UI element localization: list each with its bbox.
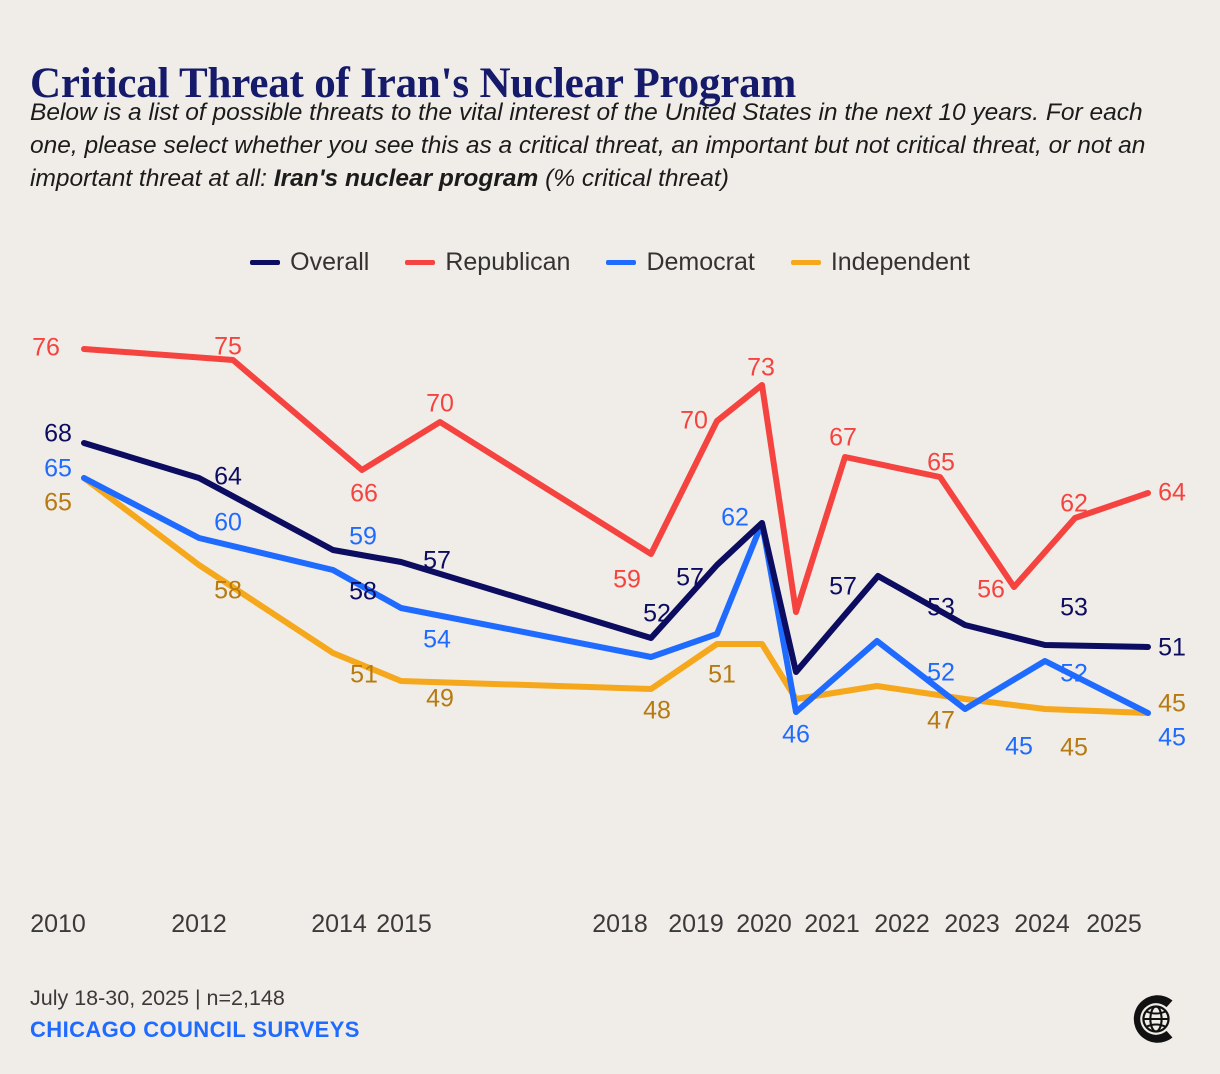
- data-label-overall: 51: [1158, 634, 1186, 663]
- x-axis-tick-2024: 2024: [1014, 910, 1070, 939]
- x-axis-tick-2019: 2019: [668, 910, 724, 939]
- chicago-council-globe-logo: [1121, 986, 1187, 1052]
- data-label-republican: 65: [927, 449, 955, 478]
- data-label-democrat: 62: [721, 504, 749, 533]
- data-label-democrat: 52: [927, 659, 955, 688]
- x-axis-tick-2023: 2023: [944, 910, 1000, 939]
- data-label-democrat: 46: [782, 721, 810, 750]
- legend-swatch-icon: [250, 260, 280, 265]
- data-label-independent: 45: [1060, 734, 1088, 763]
- data-label-republican: 70: [680, 407, 708, 436]
- legend-swatch-icon: [606, 260, 636, 265]
- data-label-republican: 64: [1158, 479, 1186, 508]
- data-label-republican: 73: [747, 354, 775, 383]
- data-label-overall: 57: [676, 564, 704, 593]
- legend-swatch-icon: [791, 260, 821, 265]
- subtitle-emphasis: Iran's nuclear program: [274, 165, 539, 192]
- data-label-democrat: 60: [214, 509, 242, 538]
- chart-page: Critical Threat of Iran's Nuclear Progra…: [0, 0, 1220, 1074]
- data-label-overall: 64: [214, 463, 242, 492]
- legend-item-republican[interactable]: Republican: [405, 248, 570, 277]
- legend-item-label: Overall: [290, 248, 369, 277]
- data-label-overall: 57: [829, 573, 857, 602]
- data-label-overall: 68: [44, 420, 72, 449]
- data-label-republican: 66: [350, 480, 378, 509]
- x-axis-tick-2021: 2021: [804, 910, 860, 939]
- subtitle-text-tail: (% critical threat): [538, 165, 729, 192]
- legend-item-label: Independent: [831, 248, 970, 277]
- data-label-overall: 58: [349, 578, 377, 607]
- data-label-republican: 67: [829, 424, 857, 453]
- legend-item-overall[interactable]: Overall: [250, 248, 369, 277]
- legend-item-label: Republican: [445, 248, 570, 277]
- data-label-democrat: 45: [1158, 724, 1186, 753]
- legend-swatch-icon: [405, 260, 435, 265]
- x-axis-tick-2022: 2022: [874, 910, 930, 939]
- brand-label: CHICAGO COUNCIL SURVEYS: [30, 1017, 360, 1043]
- x-axis-tick-2018: 2018: [592, 910, 648, 939]
- data-label-overall: 53: [1060, 594, 1088, 623]
- chart-legend: OverallRepublicanDemocratIndependent: [0, 248, 1220, 277]
- data-label-overall: 52: [643, 600, 671, 629]
- data-label-republican: 76: [32, 334, 60, 363]
- data-label-republican: 75: [214, 333, 242, 362]
- data-label-republican: 70: [426, 390, 454, 419]
- data-label-democrat: 52: [1060, 660, 1088, 689]
- x-axis-tick-2010: 2010: [30, 910, 86, 939]
- data-label-overall: 57: [423, 547, 451, 576]
- data-label-independent: 47: [927, 707, 955, 736]
- x-axis-tick-labels: 2010201220142015201820192020202120222023…: [0, 910, 1220, 950]
- data-label-independent: 65: [44, 489, 72, 518]
- data-label-democrat: 65: [44, 455, 72, 484]
- data-label-republican: 59: [613, 566, 641, 595]
- data-label-independent: 51: [350, 661, 378, 690]
- data-label-independent: 58: [214, 577, 242, 606]
- data-label-independent: 51: [708, 661, 736, 690]
- data-label-independent: 45: [1158, 690, 1186, 719]
- survey-note: July 18-30, 2025 | n=2,148: [30, 986, 285, 1011]
- data-label-democrat: 45: [1005, 733, 1033, 762]
- x-axis-tick-2015: 2015: [376, 910, 432, 939]
- data-label-independent: 49: [426, 685, 454, 714]
- data-label-republican: 56: [977, 576, 1005, 605]
- data-label-republican: 62: [1060, 490, 1088, 519]
- series-line-overall: [84, 443, 1148, 672]
- legend-item-label: Democrat: [646, 248, 754, 277]
- data-label-overall: 53: [927, 594, 955, 623]
- chart-subtitle: Below is a list of possible threats to t…: [30, 96, 1175, 195]
- x-axis-tick-2012: 2012: [171, 910, 227, 939]
- legend-item-democrat[interactable]: Democrat: [606, 248, 754, 277]
- legend-item-independent[interactable]: Independent: [791, 248, 970, 277]
- data-label-independent: 48: [643, 697, 671, 726]
- x-axis-tick-2020: 2020: [736, 910, 792, 939]
- x-axis-tick-2014: 2014: [311, 910, 367, 939]
- x-axis-tick-2025: 2025: [1086, 910, 1142, 939]
- data-label-democrat: 54: [423, 626, 451, 655]
- data-label-democrat: 59: [349, 523, 377, 552]
